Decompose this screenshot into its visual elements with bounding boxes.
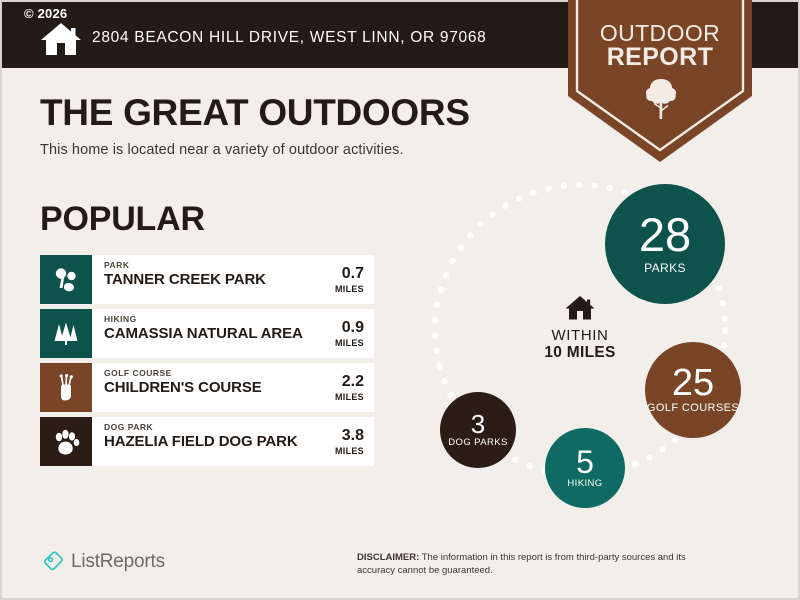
item-distance: 0.9 MILES (320, 309, 374, 358)
golf-bag-icon (52, 374, 80, 402)
item-name: TANNER CREEK PARK (104, 271, 320, 288)
home-icon (40, 21, 82, 57)
item-distance-unit: MILES (320, 392, 364, 402)
item-body: DOG PARK HAZELIA FIELD DOG PARK (92, 417, 320, 466)
item-name: CHILDREN'S COURSE (104, 379, 320, 396)
list-item[interactable]: GOLF COURSE CHILDREN'S COURSE 2.2 MILES (40, 363, 374, 412)
item-body: PARK TANNER CREEK PARK (92, 255, 320, 304)
item-distance-unit: MILES (320, 284, 364, 294)
item-icon-tile (40, 309, 92, 358)
listreports-house-icon (42, 551, 64, 573)
item-body: HIKING CAMASSIA NATURAL AREA (92, 309, 320, 358)
page-border-left (0, 0, 2, 600)
bubble-value: 25 (672, 365, 714, 401)
paw-print-icon (52, 428, 80, 456)
item-body: GOLF COURSE CHILDREN'S COURSE (92, 363, 320, 412)
within-10-miles-bubble-chart: 28 PARKS 25 GOLF COURSES 5 HIKING 3 DOG … (420, 170, 760, 520)
listreports-logo-text: ListReports (71, 551, 165, 573)
item-category: PARK (104, 261, 320, 270)
item-icon-tile (40, 417, 92, 466)
item-distance: 3.8 MILES (320, 417, 374, 466)
item-distance-value: 0.7 (320, 266, 364, 282)
item-name: CAMASSIA NATURAL AREA (104, 325, 320, 342)
item-category: GOLF COURSE (104, 369, 320, 378)
bubble-label: GOLF COURSES (647, 403, 739, 415)
item-category: DOG PARK (104, 423, 320, 432)
item-distance-value: 2.2 (320, 374, 364, 390)
page-subtitle: This home is located near a variety of o… (40, 142, 404, 158)
bubble-dog-parks[interactable]: 3 DOG PARKS (440, 392, 516, 468)
outdoor-report-badge: OUTDOOR REPORT (568, 0, 752, 162)
bubble-hiking[interactable]: 5 HIKING (545, 428, 625, 508)
badge-title-line1: OUTDOOR (568, 22, 752, 45)
item-icon-tile (40, 255, 92, 304)
property-address: 2804 BEACON HILL DRIVE, WEST LINN, OR 97… (92, 29, 487, 47)
pine-trees-icon (52, 320, 80, 348)
bubble-value: 5 (576, 447, 594, 477)
list-item[interactable]: DOG PARK HAZELIA FIELD DOG PARK 3.8 MILE… (40, 417, 374, 466)
bubble-value: 28 (639, 213, 691, 258)
item-distance-unit: MILES (320, 446, 364, 456)
popular-list: PARK TANNER CREEK PARK 0.7 MILES HIKING … (40, 255, 374, 471)
park-trees-icon (52, 266, 80, 294)
copyright-text: © 2026 (24, 6, 67, 21)
bubble-label: HIKING (567, 479, 602, 489)
page-title: THE GREAT OUTDOORS (40, 92, 470, 134)
list-item[interactable]: HIKING CAMASSIA NATURAL AREA 0.9 MILES (40, 309, 374, 358)
center-label-line1: WITHIN (515, 327, 645, 344)
item-category: HIKING (104, 315, 320, 324)
popular-section-heading: POPULAR (40, 200, 205, 239)
tree-icon (644, 78, 678, 120)
item-distance: 2.2 MILES (320, 363, 374, 412)
bubble-label: DOG PARKS (448, 438, 507, 448)
outdoor-report-page: © 2026 2804 BEACON HILL DRIVE, WEST LINN… (0, 0, 800, 600)
bubble-golf-courses[interactable]: 25 GOLF COURSES (645, 342, 741, 438)
chart-center-label: WITHIN 10 MILES (515, 295, 645, 362)
bubble-value: 3 (471, 412, 485, 437)
disclaimer-label: DISCLAIMER: (357, 552, 419, 563)
badge-title-line2: REPORT (568, 45, 752, 70)
listreports-logo[interactable]: ListReports (42, 551, 165, 573)
home-icon (565, 295, 595, 321)
item-distance-value: 3.8 (320, 428, 364, 444)
disclaimer: DISCLAIMER: The information in this repo… (357, 552, 697, 578)
item-icon-tile (40, 363, 92, 412)
item-name: HAZELIA FIELD DOG PARK (104, 433, 320, 450)
item-distance-unit: MILES (320, 338, 364, 348)
bubble-parks[interactable]: 28 PARKS (605, 184, 725, 304)
item-distance-value: 0.9 (320, 320, 364, 336)
list-item[interactable]: PARK TANNER CREEK PARK 0.7 MILES (40, 255, 374, 304)
item-distance: 0.7 MILES (320, 255, 374, 304)
bubble-label: PARKS (644, 262, 686, 275)
center-label-line2: 10 MILES (515, 344, 645, 362)
